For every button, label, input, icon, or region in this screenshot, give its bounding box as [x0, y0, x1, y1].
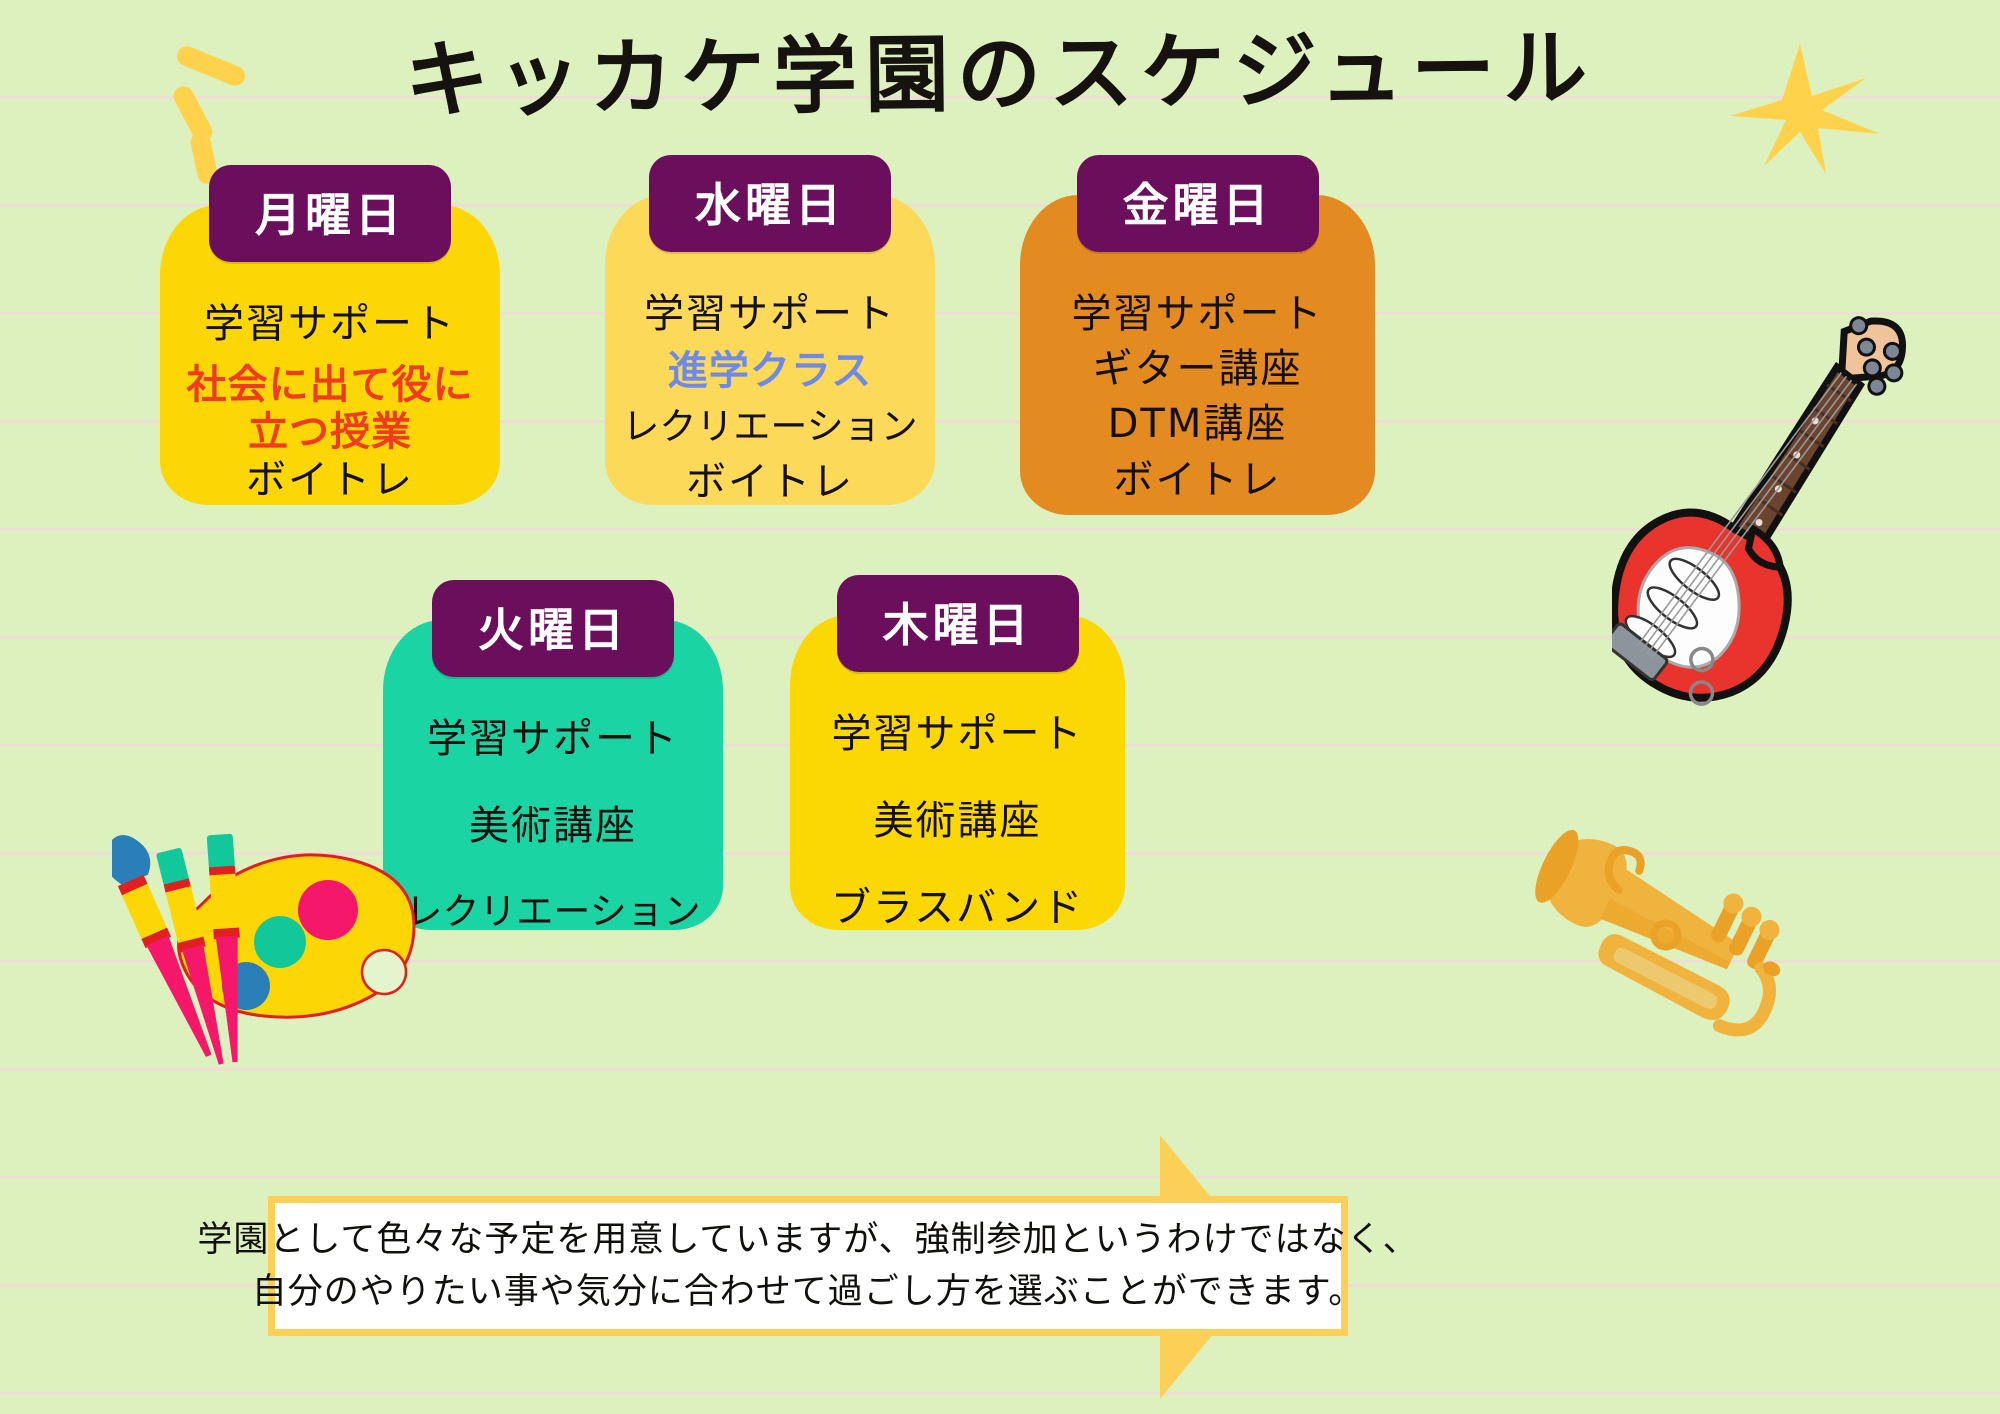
- schedule-item: ボイトレ: [246, 457, 414, 504]
- schedule-item: ボイトレ: [1114, 457, 1282, 504]
- day-title-thursday: 木曜日: [837, 575, 1079, 672]
- day-title-tuesday: 火曜日: [432, 580, 674, 677]
- schedule-item: 学習サポート: [204, 301, 456, 348]
- page-title: キッカケ学園のスケジュール: [0, 18, 2000, 131]
- schedule-item: ギター講座: [1093, 346, 1303, 393]
- electric-guitar-icon: [1612, 285, 1952, 735]
- day-items-monday: 学習サポート 社会に出て役に 立つ授業 ボイトレ: [160, 301, 500, 505]
- day-card-wednesday[interactable]: 水曜日 学習サポート 進学クラス レクリエーション ボイトレ: [605, 195, 935, 505]
- poster-canvas: キッカケ学園のスケジュール 月曜日 学習サポート 社会に出て役に 立つ授業 ボイ…: [0, 0, 2000, 1414]
- sparkle-icon: [1730, 44, 1880, 174]
- day-title-wednesday: 水曜日: [649, 155, 891, 252]
- day-title-friday: 金曜日: [1077, 155, 1319, 252]
- day-items-wednesday: 学習サポート 進学クラス レクリエーション ボイトレ: [605, 291, 935, 505]
- title-area: キッカケ学園のスケジュール: [0, 22, 2000, 152]
- schedule-item: ボイトレ: [686, 459, 854, 506]
- day-card-tuesday[interactable]: 火曜日 学習サポート 美術講座 レクリエーション: [383, 620, 723, 930]
- day-title-monday: 月曜日: [209, 165, 451, 262]
- schedule-item: 進学クラス: [668, 348, 872, 395]
- schedule-item: 社会に出て役に: [187, 362, 474, 409]
- schedule-item: DTM講座: [1108, 401, 1288, 448]
- schedule-item: 美術講座: [469, 803, 637, 850]
- day-items-friday: 学習サポート ギター講座 DTM講座 ボイトレ: [1020, 291, 1375, 515]
- day-card-monday[interactable]: 月曜日 学習サポート 社会に出て役に 立つ授業 ボイトレ: [160, 205, 500, 505]
- schedule-item: レクリエーション: [622, 405, 917, 449]
- day-items-tuesday: 学習サポート 美術講座 レクリエーション: [383, 716, 723, 930]
- schedule-item: 立つ授業: [248, 409, 412, 456]
- day-items-thursday: 学習サポート 美術講座 ブラスバンド: [790, 711, 1125, 930]
- day-card-friday[interactable]: 金曜日 学習サポート ギター講座 DTM講座 ボイトレ: [1020, 195, 1375, 515]
- note-line-2: 自分のやりたい事や気分に合わせて過ごし方を選ぶことができます。: [252, 1266, 1365, 1319]
- day-card-thursday[interactable]: 木曜日 学習サポート 美術講座 ブラスバンド: [790, 615, 1125, 930]
- trumpet-icon: [1505, 805, 1815, 1075]
- note-line-1: 学園として色々な予定を用意していますが、強制参加というわけではなく、: [197, 1214, 1418, 1267]
- schedule-item: 美術講座: [874, 798, 1042, 845]
- schedule-item: レクリエーション: [405, 890, 700, 934]
- schedule-item: 学習サポート: [832, 711, 1084, 758]
- schedule-item: ブラスバンド: [831, 885, 1084, 932]
- paint-palette-icon: [112, 800, 422, 1070]
- schedule-item: 学習サポート: [427, 716, 679, 763]
- note-banner: 学園として色々な予定を用意していますが、強制参加というわけではなく、 自分のやり…: [268, 1196, 1348, 1336]
- schedule-item: 学習サポート: [644, 291, 896, 338]
- schedule-item: 学習サポート: [1072, 291, 1324, 338]
